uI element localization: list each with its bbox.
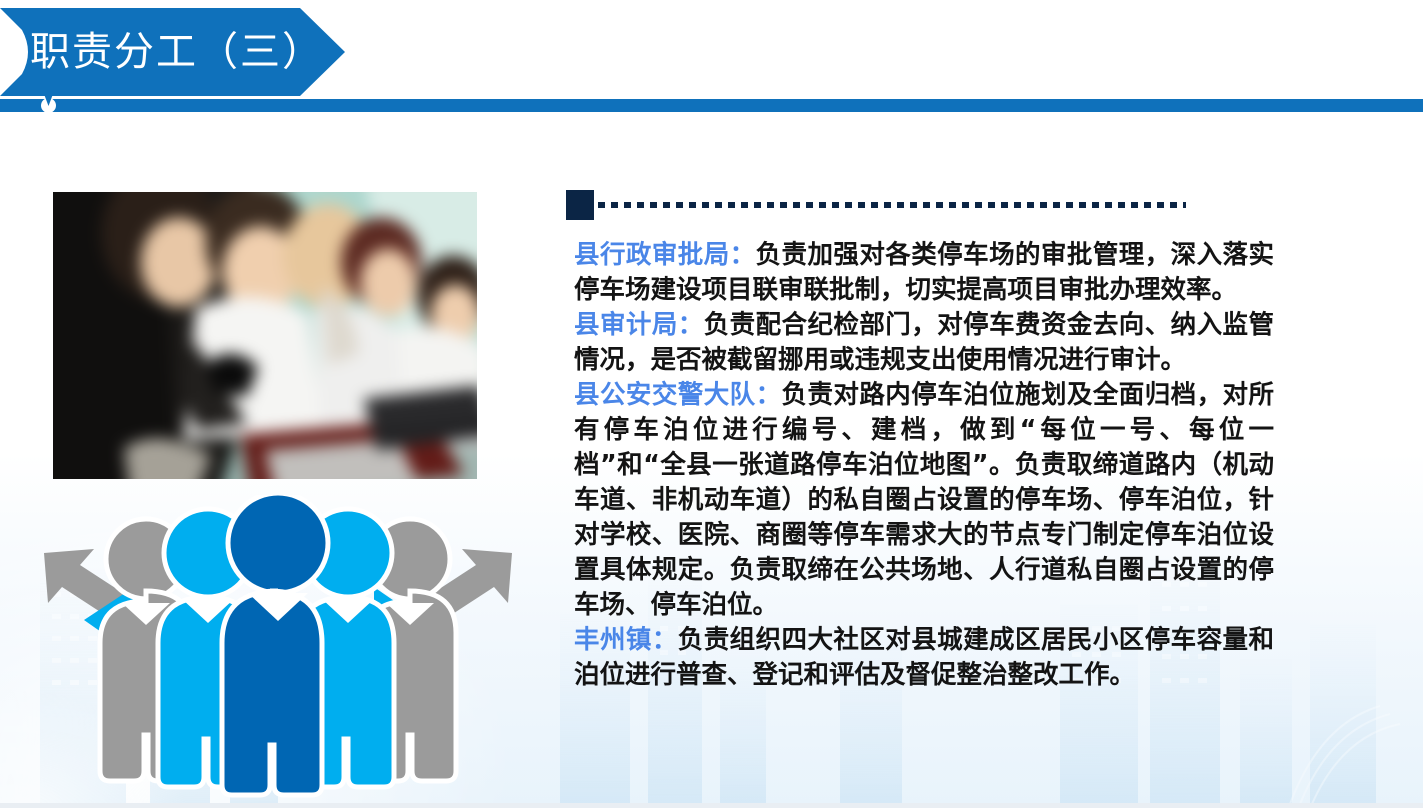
paragraph-3-text: 负责组织四大社区对县城建成区居民小区停车容量和泊位进行普查、登记和评估及督促整治… <box>574 625 1274 690</box>
bottom-rule <box>0 803 1423 808</box>
paragraph-2-text: 负责对路内停车泊位施划及全面归档，对所有停车泊位进行编号、建档，做到“每位一号、… <box>574 380 1274 620</box>
slide-root: 职责分工（三） <box>0 0 1423 808</box>
page-title: 职责分工（三） <box>30 26 324 78</box>
paragraph-1: 县审计局：负责配合纪检部门，对停车费资金去向、纳入监管情况，是否被截留挪用或违规… <box>574 308 1274 378</box>
team-meeting-photo <box>53 192 477 479</box>
person-dark-blue-center <box>222 495 328 795</box>
paragraph-2-lead: 县公安交警大队： <box>574 380 782 410</box>
paragraph-3: 丰州镇：负责组织四大社区对县城建成区居民小区停车容量和泊位进行普查、登记和评估及… <box>574 623 1274 693</box>
section-divider <box>566 190 1186 222</box>
paragraph-2: 县公安交警大队：负责对路内停车泊位施划及全面归档，对所有停车泊位进行编号、建档，… <box>574 378 1274 623</box>
paragraph-0: 县行政审批局：负责加强对各类停车场的审批管理，深入落实停车场建设项目联审联批制，… <box>574 238 1274 308</box>
divider-square-marker <box>566 190 594 220</box>
paragraph-0-lead: 县行政审批局： <box>574 240 756 270</box>
header-underline-bar <box>0 99 1423 112</box>
paragraph-1-lead: 县审计局： <box>574 310 704 340</box>
team-people-icon <box>22 495 534 800</box>
paragraph-3-lead: 丰州镇： <box>574 625 678 655</box>
divider-dotted-line <box>598 202 1186 208</box>
responsibilities-content: 县行政审批局：负责加强对各类停车场的审批管理，深入落实停车场建设项目联审联批制，… <box>574 238 1274 693</box>
